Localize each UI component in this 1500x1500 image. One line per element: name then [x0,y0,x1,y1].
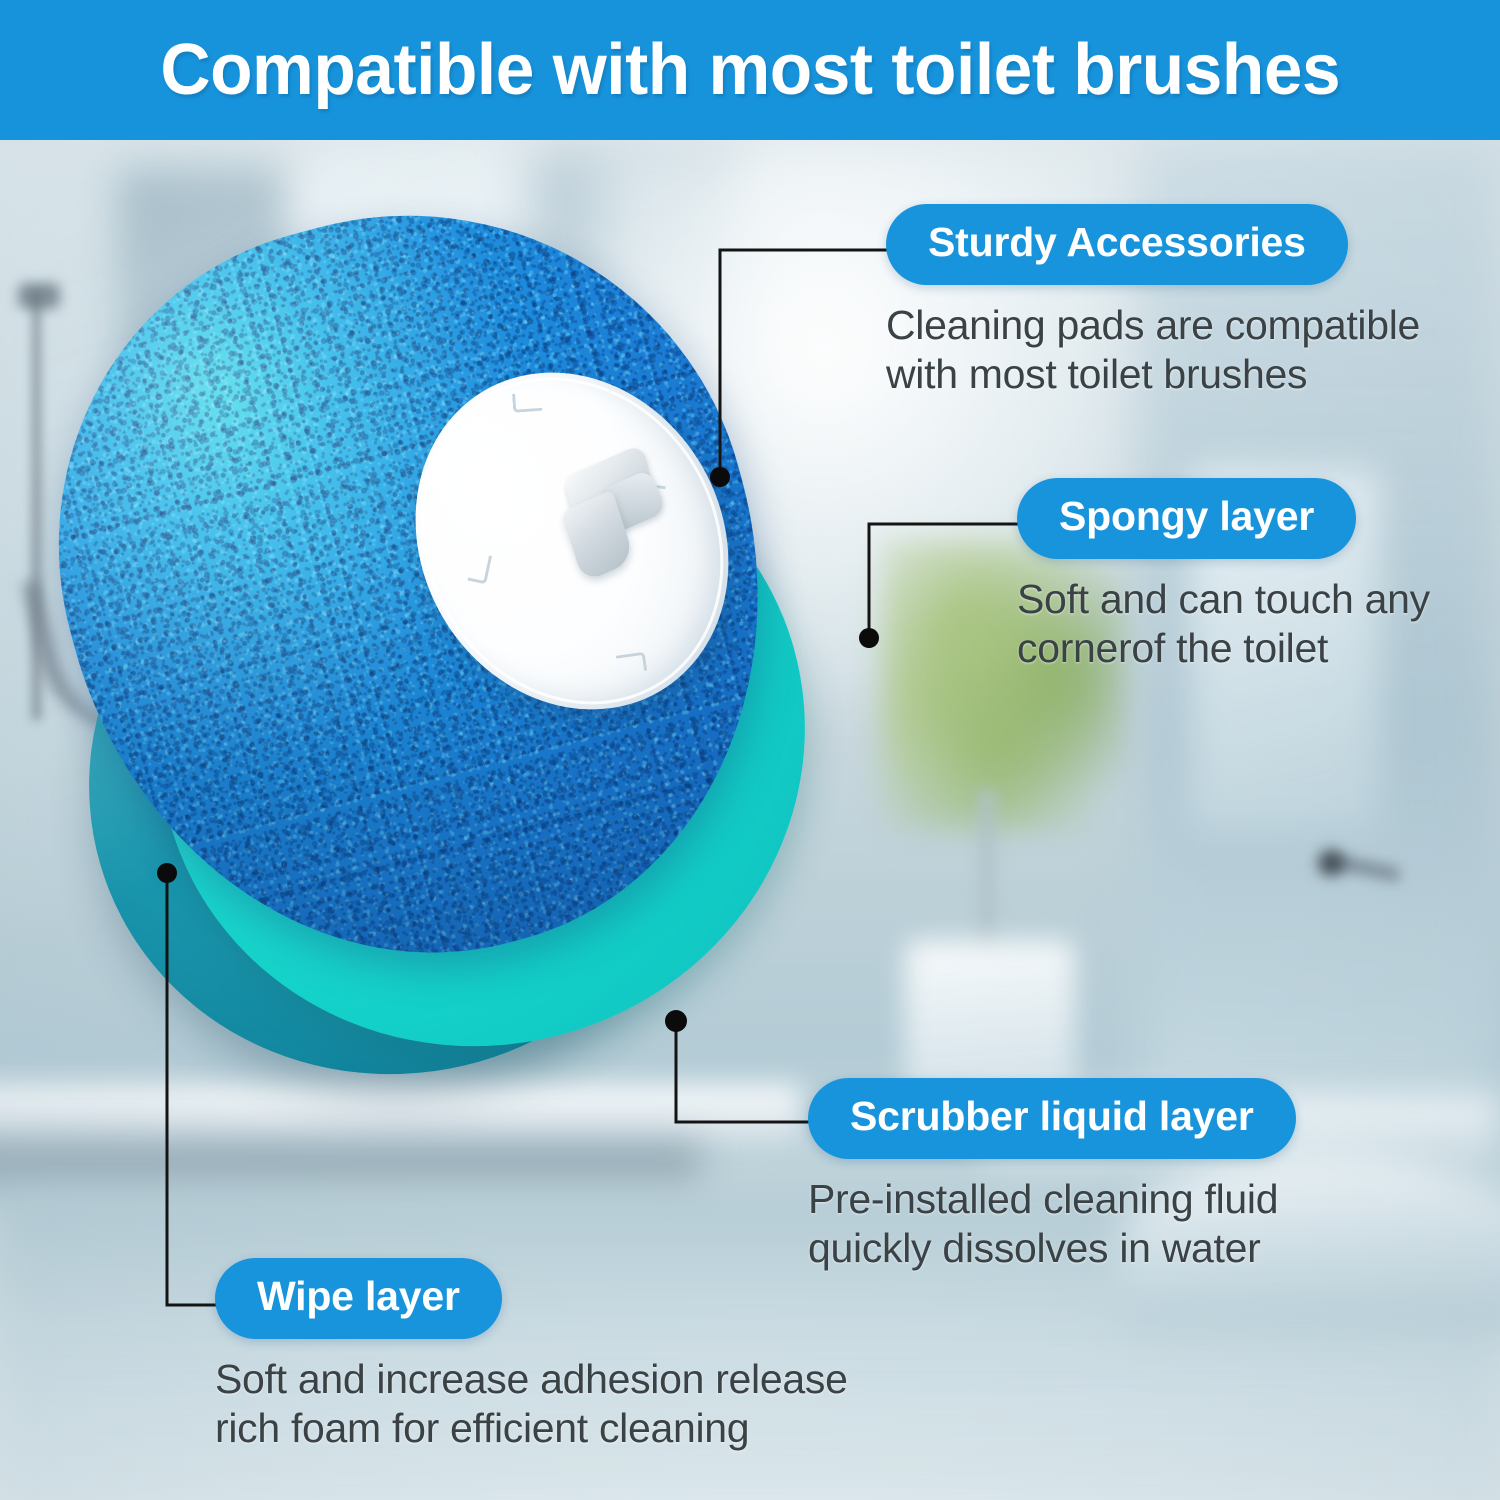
callout-wipe-layer: Wipe layer Soft and increase adhesion re… [215,1258,848,1453]
callout-sturdy-accessories: Sturdy Accessories Cleaning pads are com… [886,204,1420,399]
callout-label-spongy-layer: Spongy layer [1017,478,1356,559]
header-banner: Compatible with most toilet brushes [0,0,1500,140]
callout-description-wipe-layer: Soft and increase adhesion release rich … [215,1355,848,1453]
callout-scrubber-liquid-layer: Scrubber liquid layer Pre-installed clea… [808,1078,1296,1273]
callout-label-scrubber-liquid-layer: Scrubber liquid layer [808,1078,1296,1159]
connector-disc-notch [616,652,647,675]
connector-disc-notch [512,392,542,413]
page-title: Compatible with most toilet brushes [160,29,1340,111]
product-image [70,215,970,1115]
infographic-canvas: Compatible with most toilet brushes [0,0,1500,1500]
callout-label-wipe-layer: Wipe layer [215,1258,502,1339]
callout-description-scrubber-liquid-layer: Pre-installed cleaning fluid quickly dis… [808,1175,1296,1273]
callout-spongy-layer: Spongy layer Soft and can touch any corn… [1017,478,1430,673]
callout-description-spongy-layer: Soft and can touch any cornerof the toil… [1017,575,1430,673]
callout-description-sturdy-accessories: Cleaning pads are compatible with most t… [886,301,1420,399]
callout-label-sturdy-accessories: Sturdy Accessories [886,204,1348,285]
